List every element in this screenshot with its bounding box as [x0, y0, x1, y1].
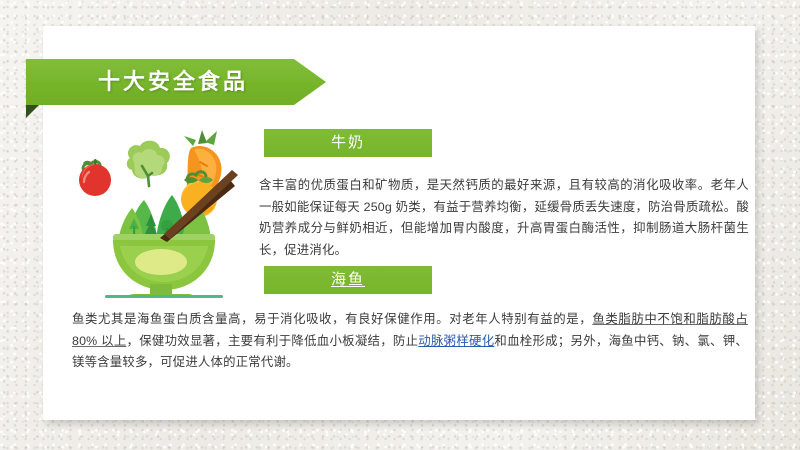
section-body-fish: 鱼类尤其是海鱼蛋白质含量高，易于消化吸收，有良好保健作用。对老年人特别有益的是，…: [72, 309, 748, 374]
page-title: 十大安全食品: [26, 59, 294, 105]
atherosclerosis-link[interactable]: 动脉粥样硬化: [418, 334, 494, 348]
fish-text-part-1: 鱼类尤其是海鱼蛋白质含量高，易于消化吸收，有良好保健作用。对老年人特别有益的是，: [72, 312, 592, 326]
slide-canvas: 十大安全食品: [0, 0, 800, 450]
section-header-milk: 牛奶: [264, 129, 432, 157]
section-header-fish-label: 海鱼: [331, 271, 365, 288]
title-ribbon: 十大安全食品: [26, 59, 326, 105]
tomato-icon: [79, 159, 111, 196]
section-header-fish: 海鱼: [264, 266, 432, 294]
section-body-milk: 含丰富的优质蛋白和矿物质，是天然钙质的最好来源，且有较高的消化吸收率。老年人一般…: [259, 175, 749, 261]
salad-bowl-illustration: [72, 122, 252, 298]
bowl-shape: [105, 234, 223, 298]
broccoli-icon: [127, 141, 170, 186]
fish-text-part-2: ，保健功效显著，主要有利于降低血小板凝结，防止: [127, 334, 419, 348]
